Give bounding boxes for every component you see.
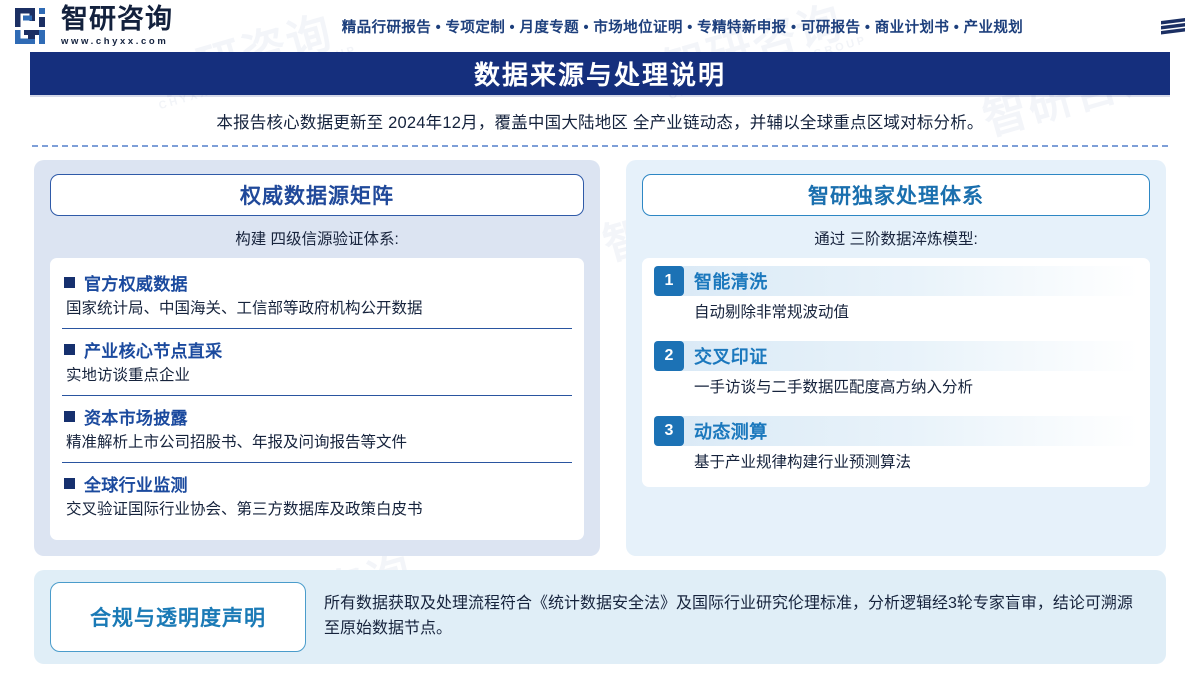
step-title: 动态测算 [694,416,768,446]
list-item[interactable]: 官方权威数据 国家统计局、中国海关、工信部等政府机构公开数据 [62,262,572,329]
left-panel-heading: 权威数据源矩阵 [240,180,394,210]
source-item-head: 资本市场披露 [64,404,570,429]
brand-text: 智研咨询 www.chyxx.com [61,6,173,47]
source-item-head: 产业核心节点直采 [64,337,570,362]
page-title: 数据来源与处理说明 [474,55,726,92]
source-list-card: 官方权威数据 国家统计局、中国海关、工信部等政府机构公开数据 产业核心节点直采 … [50,258,584,540]
page-title-band: 数据来源与处理说明 [30,52,1170,95]
right-panel-heading: 智研独家处理体系 [808,180,984,210]
zhiyan-logo-icon [14,6,54,46]
left-panel-subheading: 构建 四级信源验证体系: [50,227,584,249]
main-columns: 权威数据源矩阵 构建 四级信源验证体系: 官方权威数据 国家统计局、中国海关、工… [34,160,1166,556]
compliance-label: 合规与透明度声明 [90,602,266,632]
stacked-layers-icon[interactable] [1158,14,1188,38]
step-head: 2 交叉印证 [654,341,1138,371]
left-panel-heading-pill: 权威数据源矩阵 [50,174,584,216]
source-item-title: 官方权威数据 [84,270,188,295]
step-desc: 自动剔除非常规波动值 [694,303,1138,323]
list-item[interactable]: 2 交叉印证 一手访谈与二手数据匹配度高方纳入分析 [654,341,1138,398]
square-bullet-icon [64,344,75,355]
header-nav-text: 精品行研报告 • 专项定制 • 月度专题 • 市场地位证明 • 专精特新申报 •… [173,16,1152,37]
source-item-desc: 精准解析上市公司招股书、年报及问询报告等文件 [64,433,570,453]
source-item-head: 官方权威数据 [64,270,570,295]
step-list-card: 1 智能清洗 自动剔除非常规波动值 2 交叉印证 一手访谈与二手数据匹配度高方纳… [642,258,1150,487]
processing-system-panel: 智研独家处理体系 通过 三阶数据淬炼模型: 1 智能清洗 自动剔除非常规波动值 … [626,160,1166,556]
list-item[interactable]: 全球行业监测 交叉验证国际行业协会、第三方数据库及政策白皮书 [62,463,572,529]
dashed-divider [32,145,1168,147]
right-panel-heading-pill: 智研独家处理体系 [642,174,1150,216]
source-item-head: 全球行业监测 [64,471,570,496]
page-subtitle: 本报告核心数据更新至 2024年12月，覆盖中国大陆地区 全产业链动态，并辅以全… [30,109,1170,133]
compliance-statement-bar: 合规与透明度声明 所有数据获取及处理流程符合《统计数据安全法》及国际行业研究伦理… [34,570,1166,664]
step-desc: 基于产业规律构建行业预测算法 [694,453,1138,473]
compliance-text: 所有数据获取及处理流程符合《统计数据安全法》及国际行业研究伦理标准，分析逻辑经3… [324,592,1148,642]
step-title: 智能清洗 [694,266,768,296]
source-item-desc: 国家统计局、中国海关、工信部等政府机构公开数据 [64,299,570,319]
list-item[interactable]: 产业核心节点直采 实地访谈重点企业 [62,329,572,396]
list-item[interactable]: 资本市场披露 精准解析上市公司招股书、年报及问询报告等文件 [62,396,572,463]
source-item-title: 全球行业监测 [84,471,188,496]
authoritative-sources-panel: 权威数据源矩阵 构建 四级信源验证体系: 官方权威数据 国家统计局、中国海关、工… [34,160,600,556]
square-bullet-icon [64,277,75,288]
step-desc: 一手访谈与二手数据匹配度高方纳入分析 [694,378,1138,398]
brand-url: www.chyxx.com [61,37,173,47]
compliance-label-pill: 合规与透明度声明 [50,582,306,652]
step-title: 交叉印证 [694,341,768,371]
right-panel-subheading: 通过 三阶数据淬炼模型: [642,227,1150,249]
square-bullet-icon [64,478,75,489]
brand-block[interactable]: 智研咨询 www.chyxx.com [14,6,173,47]
brand-name: 智研咨询 [61,6,173,33]
list-item[interactable]: 3 动态测算 基于产业规律构建行业预测算法 [654,416,1138,473]
source-item-desc: 交叉验证国际行业协会、第三方数据库及政策白皮书 [64,500,570,520]
step-head: 3 动态测算 [654,416,1138,446]
list-item[interactable]: 1 智能清洗 自动剔除非常规波动值 [654,266,1138,323]
source-item-desc: 实地访谈重点企业 [64,366,570,386]
square-bullet-icon [64,411,75,422]
step-number-badge: 2 [654,341,684,371]
source-item-title: 产业核心节点直采 [84,337,222,362]
step-head: 1 智能清洗 [654,266,1138,296]
step-number-badge: 1 [654,266,684,296]
source-item-title: 资本市场披露 [84,404,188,429]
site-header: 智研咨询 www.chyxx.com 精品行研报告 • 专项定制 • 月度专题 … [0,0,1200,52]
step-number-badge: 3 [654,416,684,446]
